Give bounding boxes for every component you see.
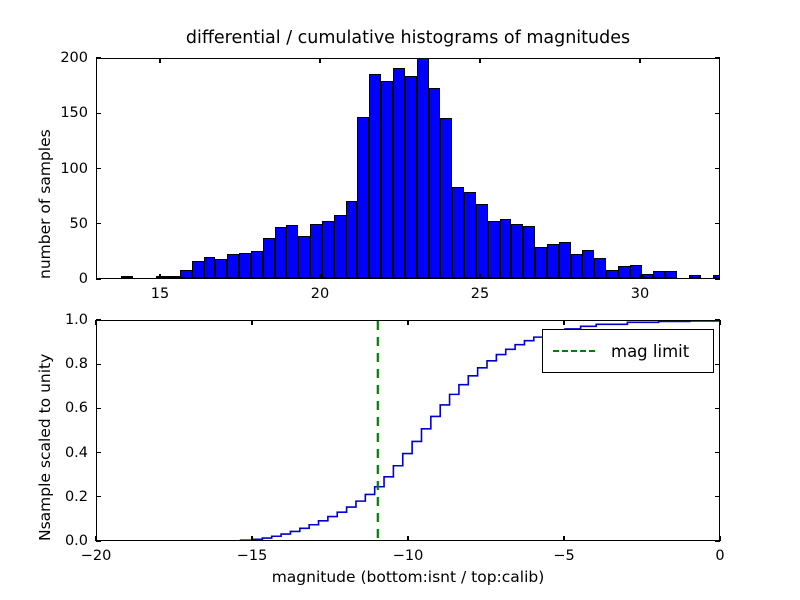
- histogram-bar: [180, 270, 192, 278]
- histogram-bar: [417, 59, 429, 278]
- histogram-bar: [476, 204, 488, 278]
- top-axis-xtick: [319, 274, 320, 279]
- top-axis-ytick: [96, 223, 101, 224]
- top-axis-ytick: [96, 278, 101, 279]
- top-axis-yticklabel: 150: [38, 105, 88, 121]
- histogram-bar: [156, 276, 168, 278]
- legend-label-mag-limit: mag limit: [611, 342, 689, 361]
- bottom-axis-yticklabel: 0.0: [38, 533, 88, 549]
- histogram-bar: [298, 236, 310, 278]
- top-axis-ytick-right: [715, 168, 720, 169]
- bottom-axis-ytick: [96, 540, 101, 541]
- bottom-axis-xtick-top: [719, 320, 720, 325]
- top-axis-xticklabel: 20: [311, 286, 329, 302]
- histogram-bar: [642, 274, 654, 278]
- histogram-bar: [606, 270, 618, 278]
- bottom-axis-xticklabel: −10: [393, 548, 424, 564]
- bottom-axis-yticklabel: 0.2: [38, 489, 88, 505]
- bottom-axis-ytick-right: [715, 408, 720, 409]
- histogram-bar: [357, 117, 369, 278]
- histogram-bar: [500, 219, 512, 278]
- bottom-axis-xtick: [407, 536, 408, 541]
- bottom-axis-xticklabel: −20: [81, 548, 112, 564]
- histogram-bar: [263, 238, 275, 278]
- histogram-bar: [227, 254, 239, 278]
- histogram-bar: [653, 271, 665, 278]
- histogram-bar: [322, 221, 334, 278]
- top-axis-ytick: [96, 113, 101, 114]
- bottom-axis-ytick-right: [715, 496, 720, 497]
- histogram-bar: [275, 227, 287, 278]
- histogram-bar: [571, 254, 583, 278]
- histogram-bar: [334, 215, 346, 278]
- top-axis-xticklabel: 30: [631, 286, 649, 302]
- histogram-bar: [689, 275, 701, 278]
- histogram-bar: [251, 251, 263, 278]
- top-axis-ytick-right: [715, 113, 720, 114]
- histogram-bar: [547, 244, 559, 278]
- histogram-bar: [346, 201, 358, 278]
- histogram-bar: [511, 224, 523, 278]
- top-axis-yticklabel: 200: [38, 50, 88, 66]
- histogram-bar: [121, 276, 133, 278]
- top-axis-yticklabel: 50: [38, 216, 88, 232]
- bottom-axis-xtick-top: [95, 320, 96, 325]
- top-axis-yticklabel: 100: [38, 161, 88, 177]
- bottom-axis-xticklabel: −15: [237, 548, 268, 564]
- top-axis-xtick: [159, 274, 160, 279]
- bottom-axis-xtick-top: [407, 320, 408, 325]
- top-axis-ytick-right: [715, 278, 720, 279]
- differential-histogram-axes: [96, 58, 720, 279]
- bottom-axis-yticklabel: 0.8: [38, 356, 88, 372]
- mag-limit-line-icon: [553, 350, 595, 352]
- histogram-bar: [192, 261, 204, 278]
- histogram-bar: [429, 88, 441, 278]
- histogram-bar: [582, 250, 594, 278]
- histogram-bar: [286, 225, 298, 278]
- bottom-axis-xtick: [251, 536, 252, 541]
- bottom-axis-yticklabel: 0.6: [38, 400, 88, 416]
- histogram-bar: [559, 242, 571, 278]
- bottom-axis-ytick: [96, 408, 101, 409]
- top-axis-xtick: [479, 274, 480, 279]
- histogram-bar: [665, 271, 677, 278]
- histogram-bar: [405, 76, 417, 278]
- histogram-bar: [488, 221, 500, 278]
- histogram-bar: [464, 192, 476, 278]
- top-axis-xtick-top: [479, 58, 480, 63]
- histogram-bar: [310, 224, 322, 278]
- top-axis-xticklabel: 15: [151, 286, 169, 302]
- histogram-bar: [618, 266, 630, 278]
- histogram-bar: [381, 81, 393, 278]
- histogram-bar: [452, 187, 464, 278]
- histogram-bar: [215, 259, 227, 278]
- histogram-bar: [239, 253, 251, 278]
- histogram-bar: [440, 118, 452, 278]
- histogram-bar: [204, 257, 216, 278]
- histogram-bar: [168, 276, 180, 278]
- histogram-bar: [535, 247, 547, 278]
- top-axis-xticklabel: 25: [471, 286, 489, 302]
- histogram-bars-layer: [97, 59, 719, 278]
- bottom-axis-yticklabel: 1.0: [38, 312, 88, 328]
- bottom-axis-ytick: [96, 364, 101, 365]
- top-axis-y-label: number of samples: [36, 129, 54, 279]
- bottom-axis-xtick-top: [251, 320, 252, 325]
- bottom-axis-yticklabel: 0.4: [38, 445, 88, 461]
- bottom-axis-ytick-right: [715, 319, 720, 320]
- bottom-axis-ytick-right: [715, 540, 720, 541]
- histogram-bar: [369, 74, 381, 278]
- bottom-axis-ytick: [96, 452, 101, 453]
- top-axis-ytick-right: [715, 57, 720, 58]
- bottom-axis-ytick-right: [715, 364, 720, 365]
- top-axis-yticklabel: 0: [38, 271, 88, 287]
- bottom-axis-xtick-top: [563, 320, 564, 325]
- figure-title: differential / cumulative histograms of …: [96, 28, 720, 48]
- matplotlib-figure: differential / cumulative histograms of …: [0, 0, 800, 600]
- top-axis-xtick-top: [159, 58, 160, 63]
- top-axis-xtick: [639, 274, 640, 279]
- legend[interactable]: mag limit: [542, 329, 714, 373]
- bottom-axis-xticklabel: 0: [715, 548, 724, 564]
- histogram-bar: [594, 258, 606, 278]
- bottom-axis-ytick-right: [715, 452, 720, 453]
- top-axis-ytick: [96, 168, 101, 169]
- histogram-bar: [523, 226, 535, 278]
- bottom-axis-xtick: [563, 536, 564, 541]
- bottom-axis-ytick: [96, 496, 101, 497]
- top-axis-ytick: [96, 57, 101, 58]
- bottom-axis-x-label: magnitude (bottom:isnt / top:calib): [96, 568, 720, 586]
- histogram-bar: [393, 68, 405, 278]
- bottom-axis-ytick: [96, 319, 101, 320]
- top-axis-ytick-right: [715, 223, 720, 224]
- top-axis-xtick-top: [319, 58, 320, 63]
- top-axis-xtick-top: [639, 58, 640, 63]
- bottom-axis-xticklabel: −5: [553, 548, 574, 564]
